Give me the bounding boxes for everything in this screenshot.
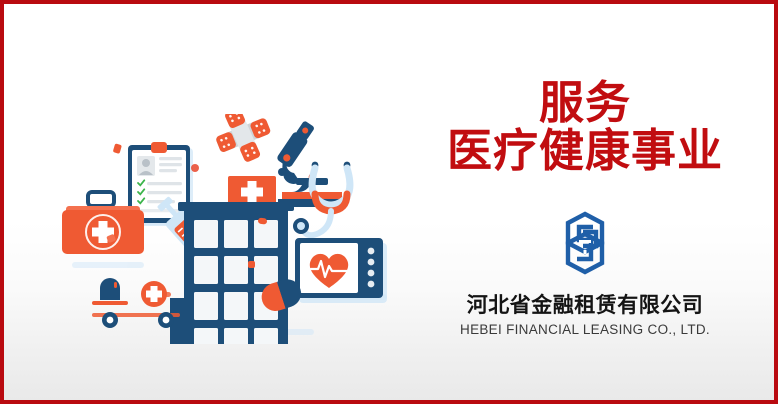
medical-healthcare-illustration bbox=[44, 114, 389, 344]
headline-line-2: 医疗健康事业 bbox=[447, 128, 723, 174]
crossed-bandages-icon bbox=[208, 114, 279, 170]
brand-logo-block: 河北省金融租赁有限公司 HEBEI FINANCIAL LEASING CO.,… bbox=[460, 210, 710, 337]
ambulance-icon bbox=[92, 278, 180, 328]
company-name-chinese: 河北省金融租赁有限公司 bbox=[467, 289, 704, 319]
company-name-english: HEBEI FINANCIAL LEASING CO., LTD. bbox=[460, 322, 710, 337]
headline-line-1: 服务 bbox=[539, 80, 631, 126]
headline-brand-panel: 服务 医疗健康事业 bbox=[396, 4, 774, 400]
promotional-slide: 服务 医疗健康事业 bbox=[0, 0, 778, 404]
heart-monitor-icon bbox=[295, 238, 387, 303]
interlocking-hexagon-logo-icon bbox=[550, 210, 620, 281]
